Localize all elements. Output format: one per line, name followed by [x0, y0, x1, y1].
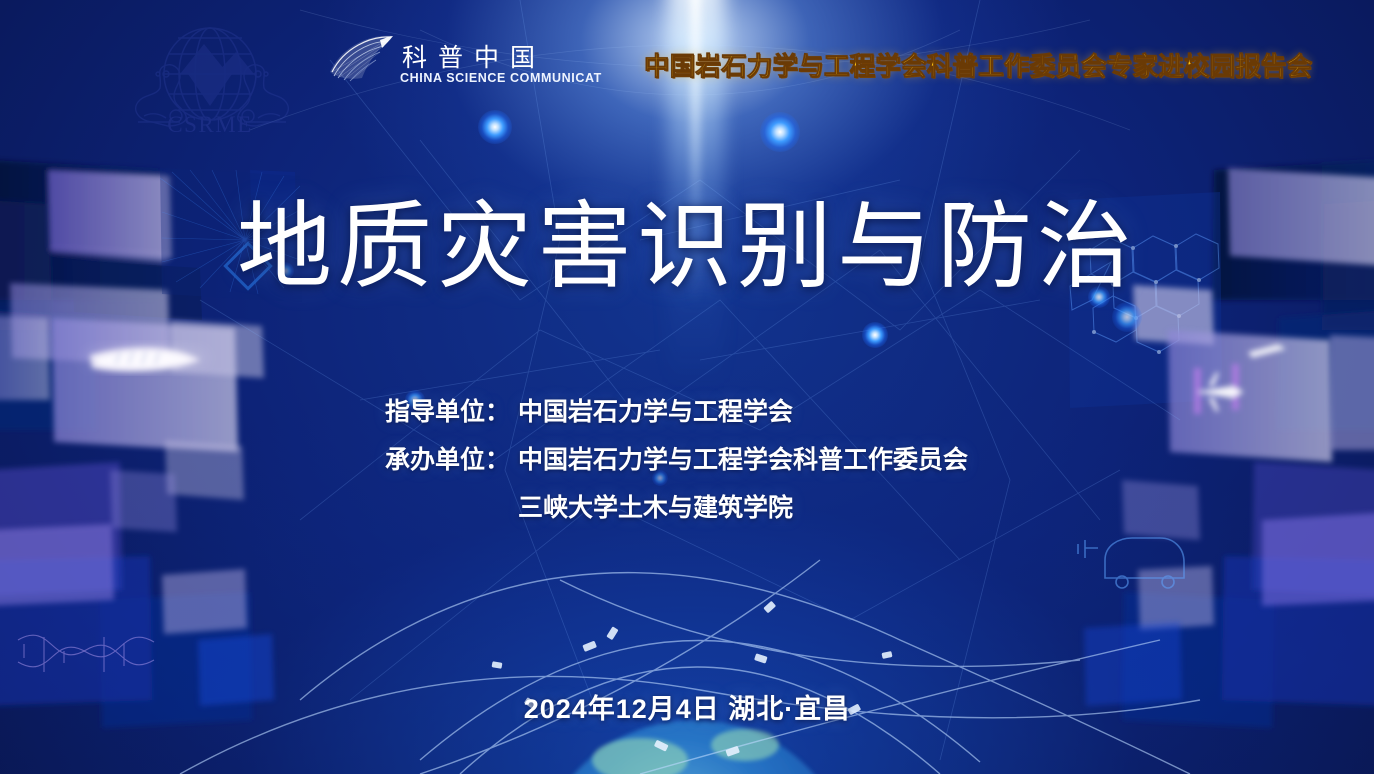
credit-value: 中国岩石力学与工程学会 — [518, 388, 793, 436]
event-banner-title: 中国岩石力学与工程学会科普工作委员会专家进校园报告会 — [644, 46, 1344, 83]
credit-value: 中国岩石力学与工程学会科普工作委员会 — [518, 436, 968, 484]
page-title: 地质灾害识别与防治 — [0, 196, 1374, 299]
kpzg-chinese: 科普中国 — [402, 44, 546, 72]
presentation-slide: CSRME 科普中国 CHINA SCIENCE COMMUNICATION 中… — [0, 0, 1374, 774]
credit-row: 指导单位： 中国岩石力学与工程学会 — [0, 388, 1374, 436]
credit-value: 三峡大学土木与建筑学院 — [518, 484, 793, 532]
credit-row: 承办单位： 中国岩石力学与工程学会科普工作委员会 — [0, 436, 1374, 484]
organizer-credits: 指导单位： 中国岩石力学与工程学会 承办单位： 中国岩石力学与工程学会科普工作委… — [0, 388, 1374, 532]
china-science-communication-logo: 科普中国 CHINA SCIENCE COMMUNICATION — [322, 32, 602, 88]
credit-label: 指导单位： — [385, 388, 518, 436]
date-location-footer: 2024年12月4日 湖北·宜昌 — [0, 687, 1374, 726]
csrme-logo: CSRME — [108, 22, 313, 142]
fan-wing-mark — [330, 36, 393, 81]
credit-label: 承办单位： — [385, 436, 518, 484]
csrme-acronym: CSRME — [167, 112, 252, 137]
kpzg-english: CHINA SCIENCE COMMUNICATION — [400, 71, 602, 85]
credit-row: 三峡大学土木与建筑学院 — [0, 484, 1374, 532]
